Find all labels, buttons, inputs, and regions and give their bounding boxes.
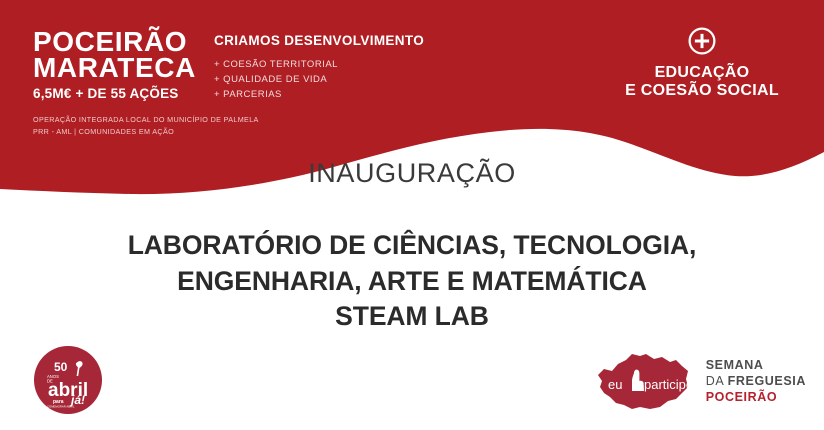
participo-word-eu: eu [608,377,622,392]
header-content: POCEIRÃO MARATECA 6,5M€ + DE 55 AÇÕES OP… [0,0,824,150]
headline-line-1: LABORATÓRIO DE CIÊNCIAS, TECNOLOGIA, [0,228,824,264]
claims-block: CRIAMOS DESENVOLVIMENTO + COESÃO TERRITO… [214,33,424,102]
abril-50-anos-logo: 50 ANOS DE abril para já! COMEMORAR ABRI… [34,346,102,414]
claims-list: + COESÃO TERRITORIAL + QUALIDADE DE VIDA… [214,57,424,102]
kicker-inauguracao: INAUGURAÇÃO [0,158,824,189]
headline-line-2: ENGENHARIA, ARTE E MATEMÁTICA [0,264,824,300]
plus-circle-icon [687,26,717,56]
footer-right-logos: eu participo SEMANA DA FREGUESIA POCEIRÃ… [588,350,806,414]
education-block: EDUCAÇÃO E COESÃO SOCIAL [602,26,802,101]
education-line2: E COESÃO SOCIAL [602,82,802,100]
semana-line2-bold: FREGUESIA [728,374,806,388]
claims-item-1: + COESÃO TERRITORIAL [214,57,424,72]
semana-line3: POCEIRÃO [706,390,806,406]
education-line1: EDUCAÇÃO [602,64,802,82]
semana-line1: SEMANA [706,358,806,374]
participo-word-participo: participo [644,377,693,392]
semana-line2: DA FREGUESIA [706,374,806,390]
brand-fineprint-line1: OPERAÇÃO INTEGRADA LOCAL DO MUNICÍPIO DE… [33,114,259,126]
headline-block: LABORATÓRIO DE CIÊNCIAS, TECNOLOGIA, ENG… [0,228,824,335]
claims-item-3: + PARCERIAS [214,87,424,102]
semana-text-block: SEMANA DA FREGUESIA POCEIRÃO [706,358,806,405]
abril-logo-subline: COMEMORAR ABRIL [47,405,75,409]
abril-logo-number: 50 [54,360,68,374]
claims-item-2: + QUALIDADE DE VIDA [214,72,424,87]
poster-canvas: POCEIRÃO MARATECA 6,5M€ + DE 55 AÇÕES OP… [0,0,824,430]
headline-line-3: STEAM LAB [0,299,824,335]
claims-title: CRIAMOS DESENVOLVIMENTO [214,33,424,48]
eu-participo-map-logo: eu participo [588,351,694,413]
semana-line2-light: DA [706,374,728,388]
brand-fineprint-line2: PRR - AML | COMUNIDADES EM AÇÃO [33,126,259,138]
